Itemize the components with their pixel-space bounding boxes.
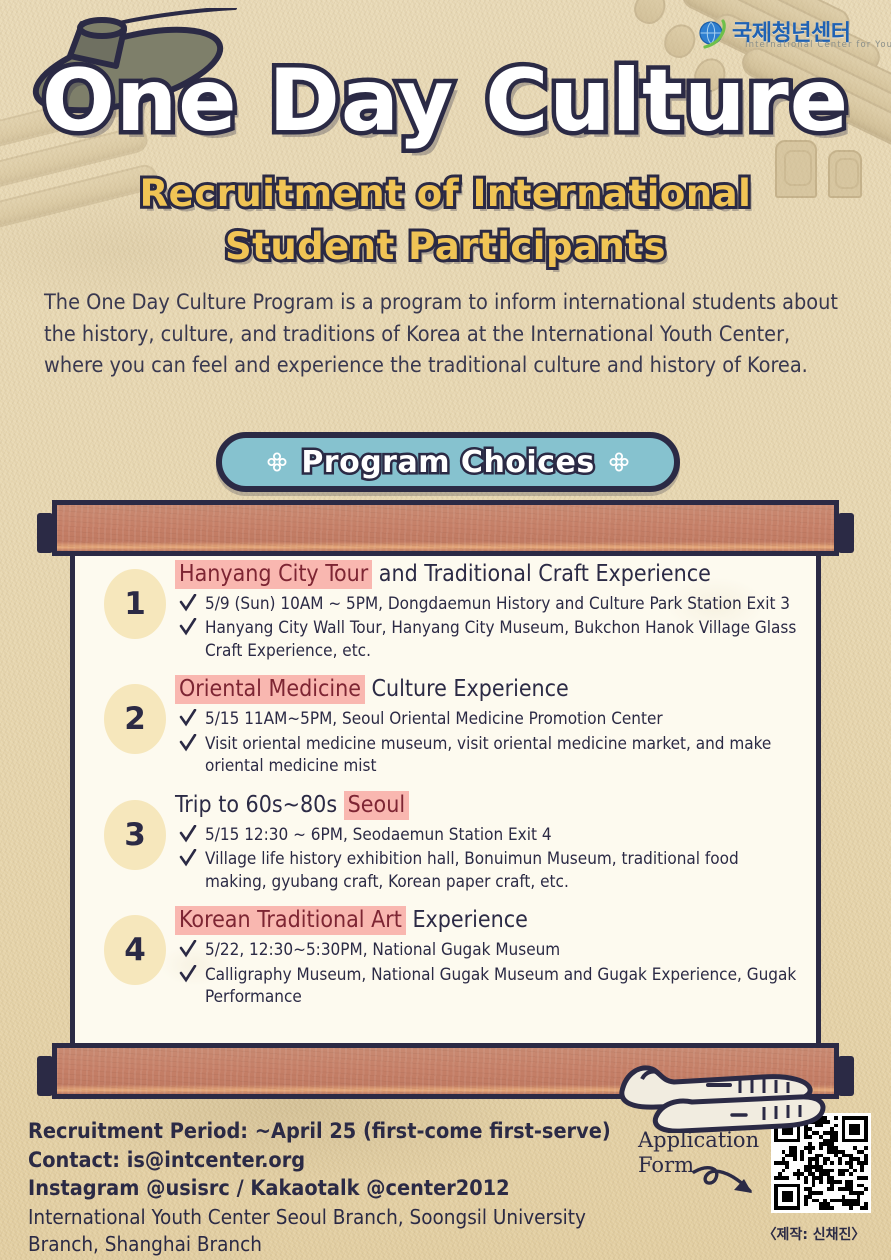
recruitment-period: Recruitment Period: ~April 25 (first-com… [28, 1118, 628, 1147]
program-bullet-text: 5/9 (Sun) 10AM ~ 5PM, Dongdaemun History… [205, 594, 790, 614]
flower-ornament-icon-left [267, 452, 287, 472]
program-number-3: 3 [104, 800, 166, 870]
program-item-4: 4 Korean Traditional Art Experience 5/22… [75, 901, 816, 1010]
program-number-1: 1 [104, 569, 166, 639]
program-title-4: Korean Traditional Art Experience [175, 905, 800, 936]
program-title-rest-2: Culture Experience [365, 676, 569, 702]
logo-english-name: International Center for Youth [745, 40, 891, 50]
program-title-rest-4: Experience [406, 907, 528, 933]
program-title-highlight-2: Oriental Medicine [175, 675, 365, 704]
program-choices-label: Program Choices [301, 445, 594, 480]
program-title-2: Oriental Medicine Culture Experience [175, 674, 800, 705]
social-handles[interactable]: Instagram @usisrc / Kakaotalk @center201… [28, 1175, 628, 1204]
program-choices-banner: Program Choices [216, 432, 680, 492]
program-bullets-2: 5/15 11AM~5PM, Seoul Oriental Medicine P… [175, 708, 800, 777]
program-number-wrap-1: 1 [95, 555, 175, 664]
footer-info: Recruitment Period: ~April 25 (first-com… [28, 1118, 628, 1258]
program-bullet: Calligraphy Museum, National Gugak Museu… [175, 964, 800, 1009]
program-title-rest-1: and Traditional Craft Experience [372, 561, 711, 587]
check-icon [179, 940, 197, 958]
program-bullet-text: 5/22, 12:30~5:30PM, National Gugak Museu… [205, 940, 560, 960]
check-icon [179, 594, 197, 612]
program-bullet: 5/22, 12:30~5:30PM, National Gugak Museu… [175, 939, 800, 961]
program-title-highlight-1: Hanyang City Tour [175, 560, 372, 589]
program-title-prefix-3: Trip to 60s~80s [175, 792, 344, 818]
program-bullets-3: 5/15 12:30 ~ 6PM, Seodaemun Station Exit… [175, 824, 800, 893]
check-icon [179, 734, 197, 752]
branch-list: International Youth Center Seoul Branch,… [28, 1204, 628, 1259]
scroll-bar-top [52, 500, 839, 556]
program-number-2: 2 [104, 684, 166, 754]
curved-arrow-icon [690, 1158, 780, 1206]
program-bullet-text: Village life history exhibition hall, Bo… [205, 849, 739, 891]
contact-email[interactable]: Contact: is@intcenter.org [28, 1147, 628, 1176]
program-bullet-text: Visit oriental medicine museum, visit or… [205, 734, 771, 776]
page-title: One Day Culture [0, 58, 891, 144]
program-title-highlight-3: Seoul [344, 791, 409, 820]
check-icon [179, 709, 197, 727]
credit-text: 〈제작: 신채진〉 [744, 1224, 884, 1244]
program-list-box: 1 Hanyang City Tour and Traditional Craf… [70, 545, 821, 1050]
program-bullet-text: 5/15 11AM~5PM, Seoul Oriental Medicine P… [205, 709, 663, 729]
program-bullet: 5/15 11AM~5PM, Seoul Oriental Medicine P… [175, 708, 800, 730]
check-icon [179, 618, 197, 636]
program-bullet: 5/9 (Sun) 10AM ~ 5PM, Dongdaemun History… [175, 593, 800, 615]
program-title-highlight-4: Korean Traditional Art [175, 906, 406, 935]
program-bullet-text: Calligraphy Museum, National Gugak Museu… [205, 965, 796, 1007]
program-bullet-text: Hanyang City Wall Tour, Hanyang City Mus… [205, 618, 796, 660]
program-bullet: Hanyang City Wall Tour, Hanyang City Mus… [175, 617, 800, 662]
poster-root: 국제청년센터 International Center for Youth On… [0, 0, 891, 1260]
program-number-wrap-2: 2 [95, 670, 175, 779]
program-bullets-4: 5/22, 12:30~5:30PM, National Gugak Museu… [175, 939, 800, 1008]
program-item-3: 3 Trip to 60s~80s Seoul 5/15 12:30 ~ 6PM… [75, 786, 816, 895]
program-number-wrap-3: 3 [95, 786, 175, 895]
program-item-1: 1 Hanyang City Tour and Traditional Craf… [75, 555, 816, 664]
program-bullet-text: 5/15 12:30 ~ 6PM, Seodaemun Station Exit… [205, 825, 552, 845]
program-body-1: Hanyang City Tour and Traditional Craft … [175, 555, 800, 664]
program-body-4: Korean Traditional Art Experience 5/22, … [175, 901, 800, 1010]
program-body-2: Oriental Medicine Culture Experience 5/1… [175, 670, 800, 779]
program-list: 1 Hanyang City Tour and Traditional Craf… [75, 545, 816, 1010]
subtitle-line-2: Student Participants [0, 221, 891, 274]
program-bullet: 5/15 12:30 ~ 6PM, Seodaemun Station Exit… [175, 824, 800, 846]
program-body-3: Trip to 60s~80s Seoul 5/15 12:30 ~ 6PM, … [175, 786, 800, 895]
program-bullet: Village life history exhibition hall, Bo… [175, 848, 800, 893]
program-number-wrap-4: 4 [95, 901, 175, 1010]
program-title-1: Hanyang City Tour and Traditional Craft … [175, 559, 800, 590]
korean-traditional-shoes-icon [612, 1055, 827, 1133]
intro-paragraph: The One Day Culture Program is a program… [44, 287, 849, 382]
program-title-3: Trip to 60s~80s Seoul [175, 790, 800, 821]
flower-ornament-icon-right [609, 452, 629, 472]
page-subtitle: Recruitment of International Student Par… [0, 168, 891, 273]
program-item-2: 2 Oriental Medicine Culture Experience 5… [75, 670, 816, 779]
subtitle-line-1: Recruitment of International [0, 168, 891, 221]
globe-icon [697, 18, 729, 50]
program-number-4: 4 [104, 915, 166, 985]
program-bullets-1: 5/9 (Sun) 10AM ~ 5PM, Dongdaemun History… [175, 593, 800, 662]
check-icon [179, 825, 197, 843]
program-bullet: Visit oriental medicine museum, visit or… [175, 733, 800, 778]
check-icon [179, 965, 197, 983]
check-icon [179, 849, 197, 867]
